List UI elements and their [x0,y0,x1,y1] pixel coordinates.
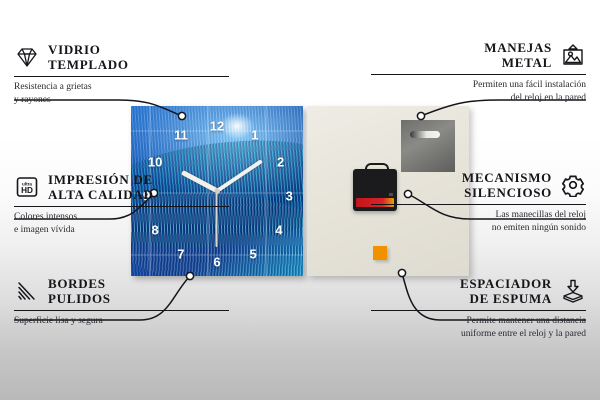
clock-numeral: 11 [174,128,188,141]
feature-foam: ESPACIADOR DE ESPUMA Permite mantener un… [371,276,586,341]
title-rule [14,310,229,312]
feature-title: IMPRESIÓN DE ALTA CALIDAD [48,172,154,203]
feature-title: ESPACIADOR DE ESPUMA [460,276,552,307]
feature-description: Permiten una fácil instalación del reloj… [371,79,586,105]
feature-description: Superficie lisa y segura [14,315,229,328]
gear-icon [560,173,586,197]
feature-glass: VIDRIO TEMPLADO Resistencia a grietas y … [14,42,229,107]
title-rule [14,206,229,208]
clock-numeral: 4 [275,224,282,237]
title-rule [371,74,586,76]
clock-numeral: 5 [249,247,256,260]
clock-numeral: 1 [251,128,258,141]
feature-title: MANEJAS METAL [484,40,552,71]
feature-hooks: MANEJAS METAL Permiten una fácil instala… [371,40,586,105]
title-rule [371,310,586,312]
feature-description: Permite mantener una distancia uniforme … [371,315,586,341]
clock-numeral: 12 [210,120,224,133]
feature-title: BORDES PULIDOS [48,276,111,307]
feature-edges: BORDES PULIDOS Superficie lisa y segura [14,276,229,328]
clock-numeral: 10 [148,156,162,169]
title-rule [14,76,229,78]
feature-description: Las manecillas del reloj no emiten ningú… [371,209,586,235]
feature-title: MECANISMO SILENCIOSO [462,170,552,201]
feature-mechanism: MECANISMO SILENCIOSO Las manecillas del … [371,170,586,235]
foam-spacer-icon [560,279,586,303]
svg-text:HD: HD [21,186,33,195]
polished-edge-icon [14,279,40,303]
infographic-canvas: 12 1 2 3 4 5 6 7 8 9 10 11 [0,0,600,400]
clock-numeral: 6 [213,256,220,269]
foam-spacer [373,246,387,260]
metal-hanger-plate [401,120,455,172]
feature-title: VIDRIO TEMPLADO [48,42,129,73]
clock-numeral: 3 [286,190,293,203]
ultra-hd-icon: ultra HD [14,175,40,199]
diamond-icon [14,45,40,69]
framed-picture-icon [560,43,586,67]
clock-numeral: 7 [177,247,184,260]
feature-description: Colores intensos e imagen vívida [14,211,229,237]
title-rule [371,204,586,206]
feature-print: ultra HD IMPRESIÓN DE ALTA CALIDAD Color… [14,172,229,237]
clock-numeral: 2 [277,156,284,169]
hanger-slot [410,131,440,138]
feature-description: Resistencia a grietas y rayones [14,81,229,107]
